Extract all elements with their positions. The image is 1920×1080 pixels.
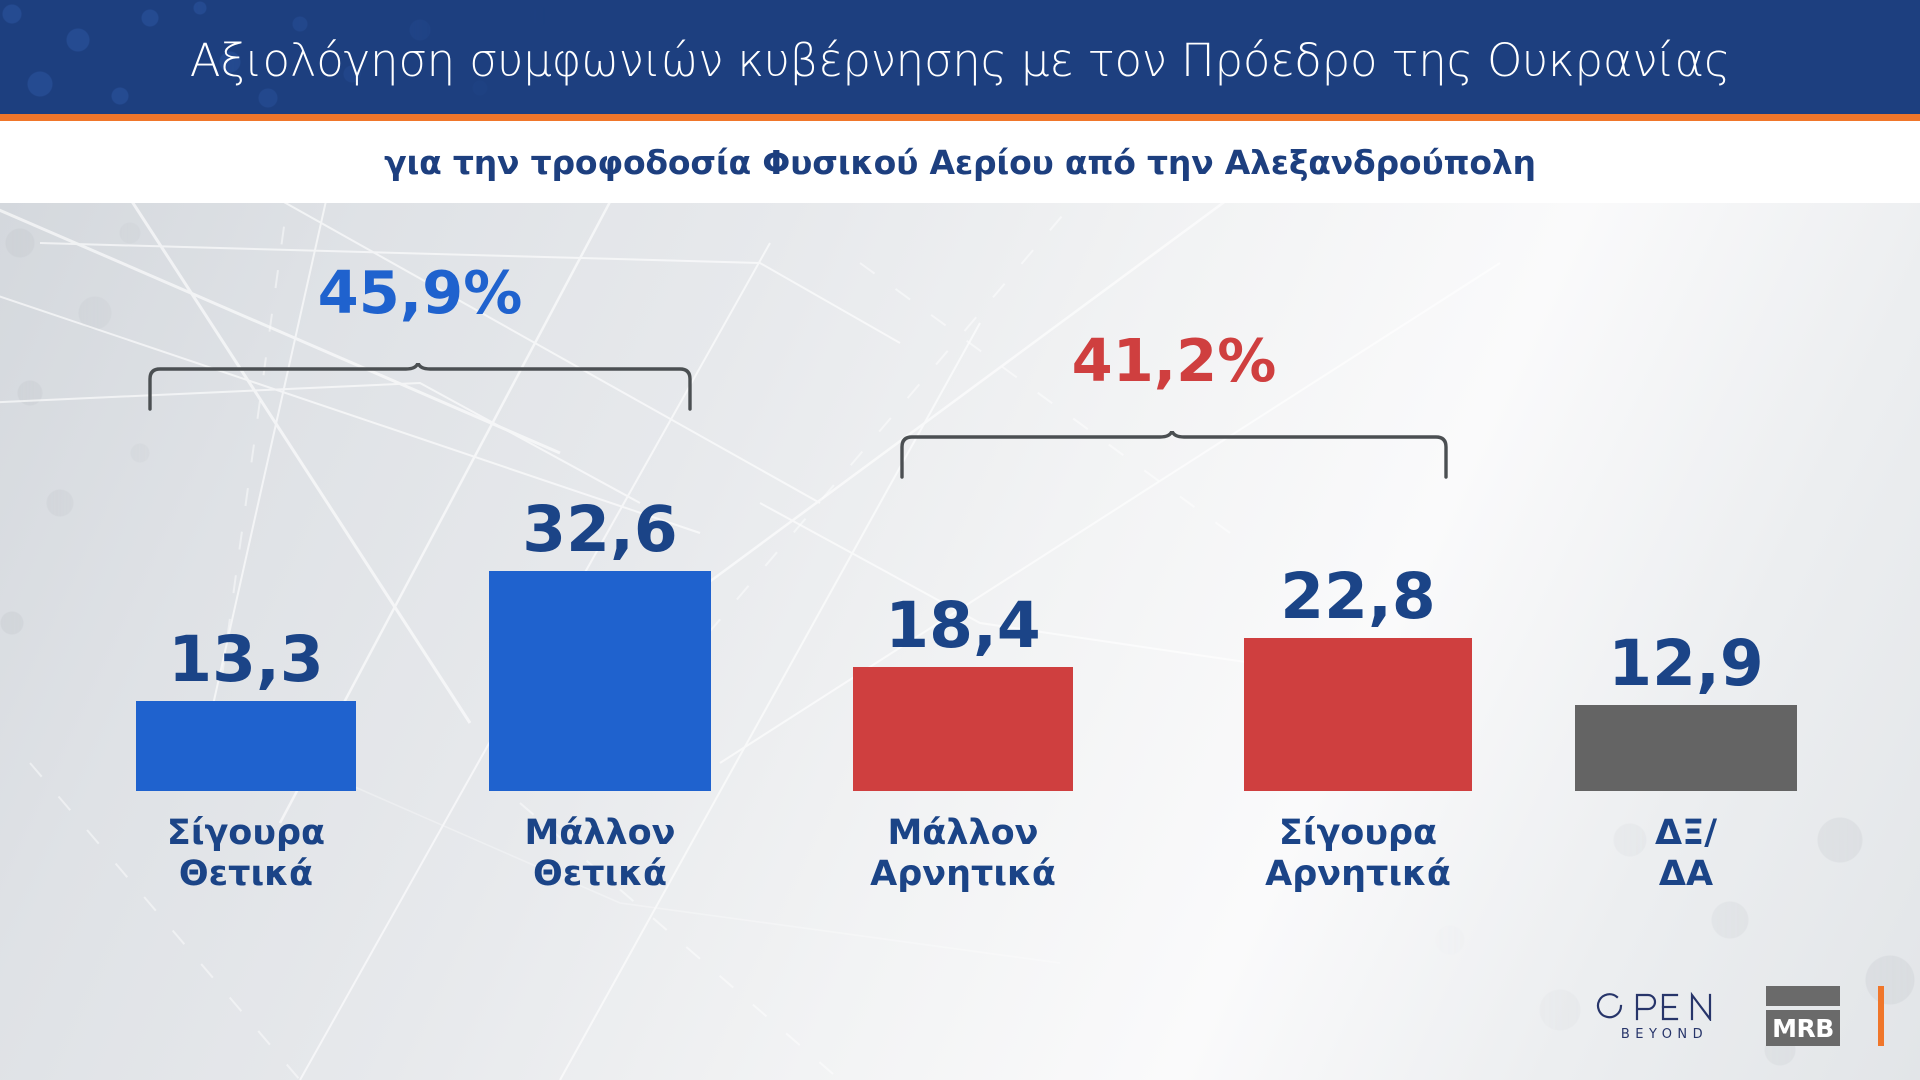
bar-value-1: 13,3: [168, 628, 323, 691]
page-title: Αξιολόγηση συμφωνιών κυβέρνησης με τον Π…: [0, 0, 1920, 114]
bar-group-5: 12,9 ΔΞ/ΔΑ: [1575, 705, 1797, 791]
brace-shape-positive: [148, 363, 692, 411]
brace-shape-negative: [900, 431, 1448, 479]
chart-canvas: 45,9% 41,2% 13,3 Σίγουρα Θετικά 32,6 Μάλ…: [0, 203, 1920, 1080]
bar-label-4: Σίγουρα Αρνητικά: [1265, 813, 1451, 896]
mrb-wordmark: MRB: [1766, 1010, 1840, 1046]
open-beyond-logo: BEYOND: [1596, 991, 1728, 1042]
bar-value-3: 18,4: [885, 594, 1040, 657]
bar-rect-3[interactable]: [853, 667, 1073, 791]
subtitle-band: για την τροφοδοσία Φυσικού Αερίου από τη…: [0, 121, 1920, 203]
bar-rect-1[interactable]: [136, 701, 356, 791]
bar-value-2: 32,6: [522, 498, 677, 561]
group-brace-negative: 41,2%: [900, 431, 1448, 479]
bar-label-3: Μάλλον Αρνητικά: [870, 813, 1056, 896]
mrb-logo: MRB: [1766, 986, 1840, 1046]
bar-rect-2[interactable]: [489, 571, 711, 791]
bar-value-5: 12,9: [1608, 632, 1763, 695]
orange-accent-tick: [1878, 986, 1884, 1046]
bar-label-5: ΔΞ/ΔΑ: [1631, 813, 1742, 896]
bar-group-2: 32,6 Μάλλον Θετικά: [489, 571, 711, 791]
bar-label-1: Σίγουρα Θετικά: [167, 813, 325, 896]
group-percent-positive: 45,9%: [318, 263, 523, 322]
open-beyond-tagline: BEYOND: [1621, 1027, 1708, 1042]
open-letters-icon: [1596, 991, 1728, 1021]
header-band: Αξιολόγηση συμφωνιών κυβέρνησης με τον Π…: [0, 0, 1920, 114]
bar-label-2: Μάλλον Θετικά: [524, 813, 675, 896]
bar-group-1: 13,3 Σίγουρα Θετικά: [136, 701, 356, 791]
mrb-top-bar: [1766, 986, 1840, 1006]
bar-rect-5[interactable]: [1575, 705, 1797, 791]
open-wordmark: [1596, 991, 1728, 1021]
page-subtitle: για την τροφοδοσία Φυσικού Αερίου από τη…: [384, 143, 1536, 182]
logo-row: BEYOND MRB: [1596, 986, 1884, 1046]
group-percent-negative: 41,2%: [1072, 331, 1277, 390]
bar-group-4: 22,8 Σίγουρα Αρνητικά: [1244, 638, 1472, 791]
group-brace-positive: 45,9%: [148, 363, 692, 411]
bar-group-3: 18,4 Μάλλον Αρνητικά: [853, 667, 1073, 791]
bar-value-4: 22,8: [1280, 565, 1435, 628]
bar-rect-4[interactable]: [1244, 638, 1472, 791]
orange-divider-rule: [0, 114, 1920, 121]
